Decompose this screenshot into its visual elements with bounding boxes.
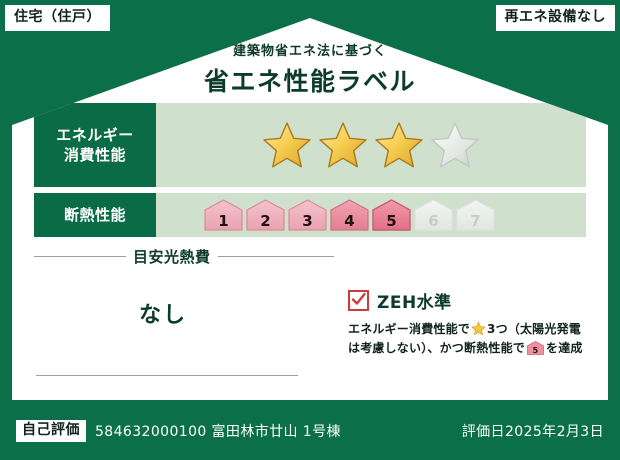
check-icon	[351, 292, 366, 307]
inline-grade-house-icon: 5	[527, 341, 544, 355]
zeh-checkbox[interactable]	[348, 290, 369, 311]
grade-house-6: 6	[414, 199, 453, 231]
grade-label: 3	[288, 214, 327, 229]
grade-label: 2	[246, 214, 285, 229]
zeh-desc-part4: を達成	[546, 341, 583, 355]
heading-rule-left	[34, 256, 126, 257]
zeh-heading-row: ZEH水準	[348, 288, 586, 313]
insulation-performance-row: 断熱性能 1	[34, 193, 586, 237]
grade-label: 1	[204, 214, 243, 229]
energy-performance-label: エネルギー 消費性能	[34, 103, 156, 187]
lower-section: 目安光熱費 なし ZEH水準	[34, 240, 586, 398]
title-block: 建築物省エネ法に基づく 省エネ性能ラベル	[12, 40, 608, 98]
energy-performance-label: 住宅（住戸） 再エネ設備なし 建築物省エネ法に基づく 省エネ性能ラベル エネルギ…	[0, 0, 620, 460]
evaluation-date: 評価日2025年2月3日	[462, 421, 620, 441]
grade-house-1: 1	[204, 199, 243, 231]
inline-star-icon	[471, 321, 486, 336]
energy-label-line2: 消費性能	[64, 146, 126, 164]
building-type-tag: 住宅（住戸）	[5, 5, 110, 31]
energy-performance-value	[156, 103, 586, 187]
inline-grade-number: 5	[527, 347, 544, 355]
utility-cost-heading-row: 目安光熱費	[34, 246, 334, 267]
label-footer: 自己評価 584632000100 富田林市廿山 1号棟 評価日2025年2月3…	[0, 402, 620, 460]
grade-house-5: 5	[372, 199, 411, 231]
star-empty-icon	[429, 119, 481, 171]
grade-label: 6	[414, 214, 453, 229]
self-evaluation-badge: 自己評価	[16, 420, 86, 442]
title-subtitle: 建築物省エネ法に基づく	[12, 40, 608, 59]
zeh-description: エネルギー消費性能で3つ（太陽光発電は考慮しない）、かつ断熱性能で5を達成	[348, 320, 586, 357]
zeh-title: ZEH水準	[377, 288, 452, 313]
cost-panel-divider	[36, 375, 298, 376]
zeh-panel: ZEH水準 エネルギー消費性能で3つ（太陽光発電は考慮しない）、かつ断熱性能で5…	[334, 240, 586, 398]
utility-cost-value: なし	[34, 297, 334, 329]
utility-cost-panel: 目安光熱費 なし	[34, 240, 334, 398]
insulation-performance-label: 断熱性能	[34, 193, 156, 237]
performance-rows: エネルギー 消費性能	[34, 103, 586, 243]
grade-house-7: 7	[456, 199, 495, 231]
grade-house-3: 3	[288, 199, 327, 231]
label-house-panel: 建築物省エネ法に基づく 省エネ性能ラベル エネルギー 消費性能	[12, 18, 608, 400]
zeh-desc-part1: エネルギー消費性能で	[348, 322, 470, 336]
grade-house-2: 2	[246, 199, 285, 231]
energy-label-line1: エネルギー	[56, 126, 134, 144]
star-rating	[261, 119, 481, 171]
renewable-equipment-tag: 再エネ設備なし	[496, 5, 616, 31]
zeh-desc-part2: 3つ（太陽光発電	[487, 322, 581, 336]
footer-left-group: 自己評価 584632000100 富田林市廿山 1号棟	[0, 420, 341, 442]
heading-rule-right	[218, 256, 334, 257]
grade-scale: 1 2	[204, 199, 495, 231]
grade-label: 5	[372, 214, 411, 229]
zeh-desc-part3: は考慮しない）、かつ断熱性能で	[348, 341, 525, 355]
insulation-performance-value: 1 2	[156, 193, 586, 237]
grade-house-4: 4	[330, 199, 369, 231]
star-filled-icon	[261, 119, 313, 171]
grade-label: 4	[330, 214, 369, 229]
footer-id-address: 584632000100 富田林市廿山 1号棟	[95, 421, 341, 441]
energy-performance-row: エネルギー 消費性能	[34, 103, 586, 187]
utility-cost-heading: 目安光熱費	[133, 246, 211, 267]
star-filled-icon	[373, 119, 425, 171]
page-title: 省エネ性能ラベル	[12, 62, 608, 98]
grade-label: 7	[456, 214, 495, 229]
star-filled-icon	[317, 119, 369, 171]
